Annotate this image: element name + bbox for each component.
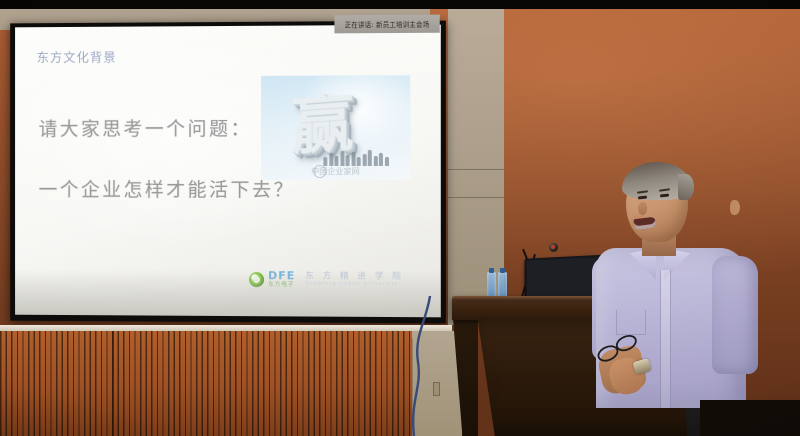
water-bottle-1 bbox=[487, 272, 496, 298]
water-bottle-2 bbox=[498, 272, 507, 298]
dfe-logo-icon bbox=[249, 272, 264, 287]
speaker-shirt-placket bbox=[660, 270, 671, 408]
logo-company-cn: 东方电子 bbox=[268, 281, 295, 288]
wood-wainscot bbox=[0, 331, 412, 436]
lecture-photo: 东方文化背景 赢 中国企业家网 请大家思考一个问题： 一个企业怎样才能活下去？ bbox=[0, 0, 800, 436]
dark-foreground-object bbox=[700, 400, 800, 436]
status-banner: 正在讲话: 新员工培训主会场 bbox=[334, 15, 439, 34]
speaker-nose bbox=[638, 202, 647, 215]
speaker-ear bbox=[730, 200, 740, 215]
speaker-right-sleeve bbox=[712, 256, 758, 374]
microphone-head-icon bbox=[549, 243, 558, 252]
slide-line-2: 一个企业怎样才能活下去？ bbox=[39, 175, 296, 202]
crowd-figures bbox=[323, 144, 404, 166]
status-banner-text: 正在讲话: 新员工培训主会场 bbox=[345, 19, 430, 29]
slide-footer-logo: DFE 东方电子 东 方 精 进 学 院 Dongfang Jingjin Un… bbox=[249, 270, 404, 289]
slide-line-1: 请大家思考一个问题： bbox=[39, 114, 296, 141]
logo-abbr: DFE bbox=[268, 270, 295, 281]
speaker-figure bbox=[590, 160, 770, 436]
ceiling-shadow-band bbox=[0, 0, 800, 9]
projection-surface: 东方文化背景 赢 中国企业家网 请大家思考一个问题： 一个企业怎样才能活下去？ bbox=[15, 25, 441, 318]
slide-title: 东方文化背景 bbox=[37, 47, 117, 66]
logo-school-en: Dongfang Jingjin University bbox=[305, 281, 404, 288]
speaker-hair bbox=[622, 162, 692, 200]
logo-school-cn: 东 方 精 进 学 院 bbox=[305, 271, 404, 281]
slide-body: 请大家思考一个问题： 一个企业怎样才能活下去？ bbox=[39, 114, 296, 236]
image-watermark: 中国企业家网 bbox=[311, 166, 359, 177]
wainscot-seam bbox=[112, 331, 114, 436]
projection-screen: 东方文化背景 赢 中国企业家网 请大家思考一个问题： 一个企业怎样才能活下去？ bbox=[10, 21, 446, 324]
